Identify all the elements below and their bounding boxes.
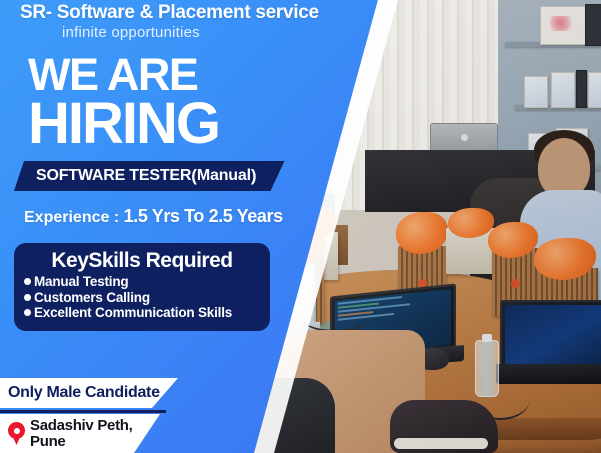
key-skills-box: KeySkills Required Manual Testing Custom… [14,243,270,331]
location-pin-icon [8,422,25,445]
location-line-1: Sadashiv Peth, [30,417,133,434]
role-mode-close: ) [251,166,257,186]
bullet-icon [24,278,31,285]
brand-name: SR- Software & Placement service [20,2,380,24]
experience-label: Experience : [24,209,124,226]
location-band: Sadashiv Peth, Pune [0,414,186,453]
brand-tagline: infinite opportunities [62,24,200,41]
candidate-note-band: Only Male Candidate [0,378,196,408]
hiring-poster: SR- Software & Placement service infinit… [0,0,601,453]
skill-label: Excellent Communication Skills [34,305,232,321]
skill-item: Manual Testing [24,274,260,290]
headline-line-2: HIRING [28,95,219,153]
skill-item: Excellent Communication Skills [24,305,260,321]
skill-item: Customers Calling [24,290,260,306]
location-line-2: Pune [30,433,65,450]
skill-label: Customers Calling [34,290,150,306]
role-mode: Manual [197,167,251,185]
footer-divider [0,410,166,413]
role-title: SOFTWARE TESTER [36,167,191,185]
location-text: Sadashiv Peth, Pune [30,418,133,449]
experience-value: 1.5 Yrs To 2.5 Years [124,206,283,226]
bullet-icon [24,309,31,316]
poster-content: SR- Software & Placement service infinit… [0,0,601,453]
key-skills-title: KeySkills Required [24,249,260,273]
bullet-icon [24,294,31,301]
candidate-note: Only Male Candidate [0,384,160,402]
skill-label: Manual Testing [34,274,128,290]
experience-line: Experience : 1.5 Yrs To 2.5 Years [24,206,283,227]
role-banner: SOFTWARE TESTER ( Manual ) [14,161,285,191]
